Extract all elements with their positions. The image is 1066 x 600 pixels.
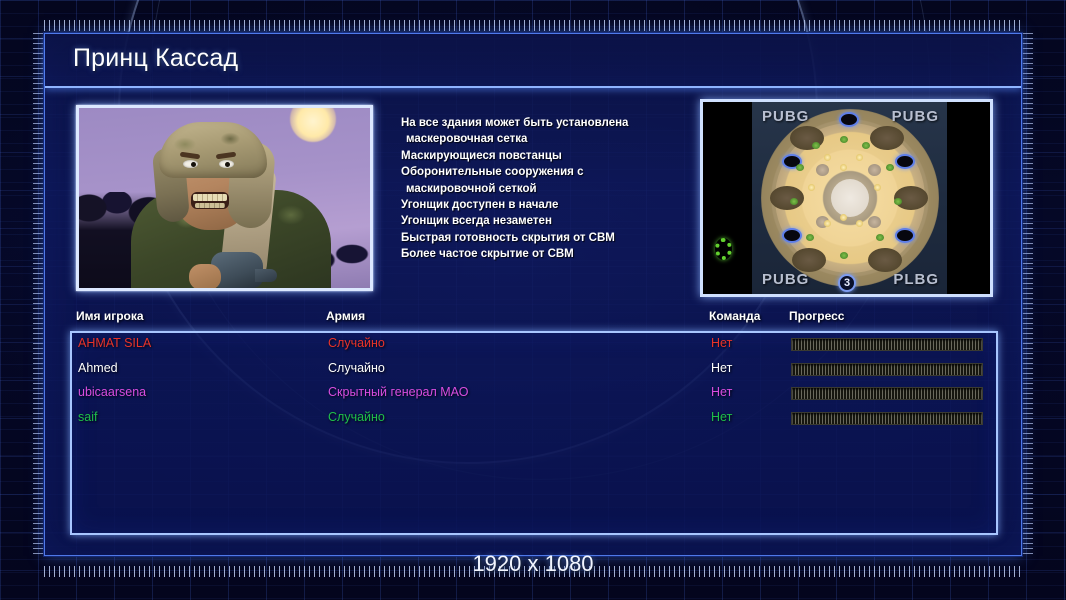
- table-row[interactable]: Ahmed Случайно Нет: [72, 358, 996, 383]
- player-progress-bar: [791, 412, 983, 425]
- table-row[interactable]: saif Случайно Нет: [72, 407, 996, 432]
- map-building: [792, 248, 826, 272]
- portrait-pupil-right: [225, 162, 230, 167]
- map-bush: [812, 142, 820, 149]
- map-spawn-point: [895, 228, 915, 243]
- map-rock: [868, 164, 881, 176]
- page-title: Принц Кассад: [73, 44, 238, 73]
- player-name: Ahmed: [78, 361, 118, 375]
- player-army[interactable]: Случайно: [328, 336, 385, 350]
- portrait-teeth-lower: [195, 203, 225, 208]
- map-loading-ring-icon: [715, 238, 732, 260]
- map-bush: [840, 252, 848, 259]
- player-team[interactable]: Нет: [711, 385, 732, 399]
- lobby-window: Принц Кассад: [44, 33, 1022, 556]
- player-table-header: Имя игрока Армия Команда Прогресс: [45, 309, 1021, 333]
- ruler-top: [44, 20, 1022, 31]
- faction-description: На все здания может быть установлена мас…: [401, 115, 719, 263]
- player-name: saif: [78, 410, 97, 424]
- map-bush: [796, 164, 804, 171]
- description-line: Быстрая готовность скрытия от СВМ: [401, 230, 719, 246]
- map-building: [868, 248, 902, 272]
- player-progress-bar: [791, 363, 983, 376]
- map-bush: [886, 164, 894, 171]
- portrait-pupil-left: [191, 162, 196, 167]
- player-army[interactable]: Случайно: [328, 410, 385, 424]
- map-building: [870, 126, 904, 150]
- player-army[interactable]: Скрытный генерал МАО: [328, 385, 468, 399]
- portrait-mouth: [191, 192, 229, 209]
- player-team[interactable]: Нет: [711, 410, 732, 424]
- portrait-headwrap-top: [159, 122, 267, 178]
- map-center-plaza: [831, 179, 869, 217]
- description-line: На все здания может быть установлена: [401, 115, 719, 131]
- map-image: PUBG PUBG PUBG PLBG 3: [752, 102, 947, 294]
- map-rock: [868, 216, 881, 228]
- map-loot: [856, 220, 863, 227]
- column-header-player-name: Имя игрока: [76, 309, 144, 323]
- player-team[interactable]: Нет: [711, 336, 732, 350]
- description-line: маскеровочная сетка: [401, 131, 719, 147]
- table-row[interactable]: ubicaarsena Скрытный генерал МАО Нет: [72, 382, 996, 407]
- column-header-progress: Прогресс: [789, 309, 844, 323]
- ruler-right: [1022, 33, 1033, 556]
- map-loot: [874, 184, 881, 191]
- commander-portrait: [76, 105, 373, 291]
- map-spawn-marker-3: 3: [838, 274, 856, 292]
- map-bush: [806, 234, 814, 241]
- description-line: Маскирующиеся повстанцы: [401, 148, 719, 164]
- description-line: Оборонительные сооружения с: [401, 164, 719, 180]
- map-watermark: PLBG: [893, 271, 939, 288]
- player-team[interactable]: Нет: [711, 361, 732, 375]
- player-name: ubicaarsena: [78, 385, 146, 399]
- map-bush: [840, 136, 848, 143]
- description-line: Угонщик доступен в начале: [401, 197, 719, 213]
- portrait-teeth-upper: [193, 194, 227, 201]
- portrait-artwork: [79, 108, 370, 288]
- faction-info-row: На все здания может быть установлена мас…: [45, 88, 1021, 309]
- map-loot: [824, 220, 831, 227]
- player-name: AHMAT SILA: [78, 336, 151, 350]
- resolution-label: 1920 x 1080: [0, 551, 1066, 577]
- map-spawn-point: [895, 154, 915, 169]
- map-loot: [840, 214, 847, 221]
- portrait-kettle-spout: [255, 269, 277, 282]
- map-watermark: PUBG: [762, 271, 809, 288]
- ruler-left: [33, 33, 44, 556]
- map-preview[interactable]: PUBG PUBG PUBG PLBG 3: [700, 99, 993, 297]
- map-building: [770, 186, 804, 210]
- map-bush: [862, 142, 870, 149]
- player-table: AHMAT SILA Случайно Нет Ahmed Случайно Н…: [70, 331, 998, 535]
- window-header: Принц Кассад: [45, 34, 1021, 88]
- player-army[interactable]: Случайно: [328, 361, 385, 375]
- table-row[interactable]: AHMAT SILA Случайно Нет: [72, 333, 996, 358]
- map-spawn-point: [839, 112, 859, 127]
- map-spawn-point: [782, 228, 802, 243]
- map-loot: [840, 164, 847, 171]
- map-watermark: PUBG: [762, 108, 809, 125]
- map-watermark: PUBG: [892, 108, 939, 125]
- map-loot: [824, 154, 831, 161]
- portrait-hand: [189, 264, 221, 290]
- map-bush: [876, 234, 884, 241]
- column-header-army: Армия: [326, 309, 365, 323]
- player-progress-bar: [791, 338, 983, 351]
- map-bush: [894, 198, 902, 205]
- map-rock: [816, 164, 829, 176]
- map-loot: [808, 184, 815, 191]
- description-line: Угонщик всегда незаметен: [401, 213, 719, 229]
- map-loot: [856, 154, 863, 161]
- map-bush: [790, 198, 798, 205]
- player-progress-bar: [791, 387, 983, 400]
- column-header-team: Команда: [709, 309, 760, 323]
- description-line: Более частое скрытие от СВМ: [401, 246, 719, 262]
- game-lobby-screen: Принц Кассад: [0, 0, 1066, 600]
- description-line: маскировочной сеткой: [401, 181, 719, 197]
